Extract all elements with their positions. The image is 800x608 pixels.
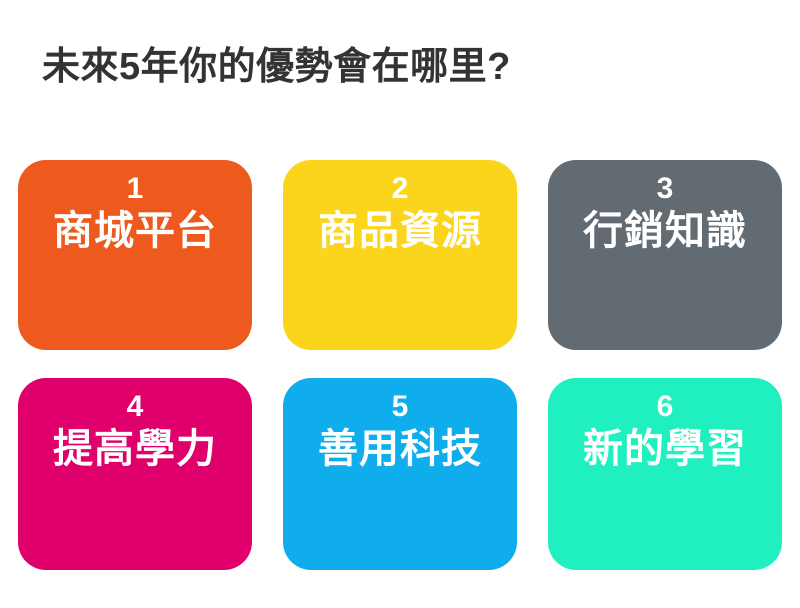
card-2-number: 2 [392, 172, 409, 205]
card-4-number: 4 [127, 390, 144, 423]
card-3-label: 行銷知識 [583, 207, 747, 255]
slide-canvas: 未來5年你的優勢會在哪里? 1 商城平台 2 商品資源 3 行銷知識 4 提高學… [0, 0, 800, 608]
card-1-number: 1 [127, 172, 144, 205]
page-title: 未來5年你的優勢會在哪里? [42, 44, 511, 92]
card-5-number: 5 [392, 390, 409, 423]
card-4-label: 提高學力 [53, 425, 217, 473]
card-2[interactable]: 2 商品資源 [283, 160, 517, 350]
card-grid: 1 商城平台 2 商品資源 3 行銷知識 4 提高學力 5 善用科技 6 新的學… [18, 160, 788, 570]
card-6[interactable]: 6 新的學習 [548, 378, 782, 570]
card-1-label: 商城平台 [53, 207, 217, 255]
card-5-label: 善用科技 [318, 425, 482, 473]
card-1[interactable]: 1 商城平台 [18, 160, 252, 350]
card-3[interactable]: 3 行銷知識 [548, 160, 782, 350]
card-3-number: 3 [657, 172, 674, 205]
card-6-label: 新的學習 [583, 425, 747, 473]
card-4[interactable]: 4 提高學力 [18, 378, 252, 570]
card-5[interactable]: 5 善用科技 [283, 378, 517, 570]
card-2-label: 商品資源 [318, 207, 482, 255]
card-6-number: 6 [657, 390, 674, 423]
